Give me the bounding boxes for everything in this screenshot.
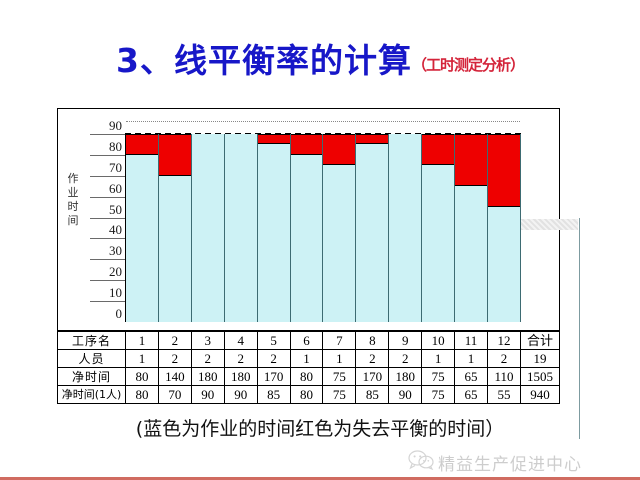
table-cell: 70 [158,386,191,404]
table-row: 净时间80140180180170807517018075651101505 [58,368,560,386]
chart-bar [126,134,159,322]
y-axis-tick-line [90,134,126,135]
table-cell: 2 [158,350,191,368]
title-sub-text: （工时测定分析） [412,56,524,74]
chart-bar-segment-blue [323,165,355,322]
reference-line-dotted [126,121,520,122]
table-column-header: 9 [389,332,422,350]
table-cell: 75 [323,368,356,386]
y-axis-tick-label: 30 [84,243,122,260]
table-cell: 2 [224,350,257,368]
y-axis-tick-label: 60 [84,181,122,198]
table-cell: 85 [257,386,290,404]
table-cell: 80 [126,386,159,404]
chart-bar-segment-red [356,134,388,144]
chart-bar [323,134,356,322]
chart-bar [389,134,422,322]
table-row-label: 工序名 [58,332,126,350]
table-row-label: 人员 [58,350,126,368]
page-title: 3、线平衡率的计算（工时测定分析） [0,34,640,82]
chart-bar [291,134,324,322]
chart-bar-segment-blue [455,186,487,322]
table-column-header: 12 [488,332,521,350]
y-axis-tick-label: 0 [84,306,122,323]
y-axis-tick-label: 80 [84,139,122,156]
table-cell: 75 [422,386,455,404]
watermark: 精益生产促进中心 [408,450,582,475]
chart-bar-segment-red [258,134,290,144]
table-column-header: 8 [356,332,389,350]
data-table: 工序名123456789101112合计人员12222112211219净时间8… [57,331,560,404]
y-axis-title-char: 时 [62,200,84,214]
table-column-header: 3 [191,332,224,350]
table-column-header: 1 [126,332,159,350]
table-cell: 75 [422,368,455,386]
chart-bar-segment-red [126,134,158,155]
chart-bar-segment-red [159,134,191,176]
chart-bar-segment-blue [258,144,290,322]
y-axis-title: 作 业 时 间 [62,172,84,228]
y-axis-title-char: 作 [62,172,84,186]
chart-bar-segment-blue [291,155,323,322]
table-cell: 110 [488,368,521,386]
table-column-header: 10 [422,332,455,350]
title-main-text: 3、线平衡率的计算 [116,41,412,80]
y-axis-tick-line [90,197,126,198]
chart-bar-segment-blue [488,207,520,322]
chart-bar-segment-red [422,134,454,165]
table-cell: 180 [389,368,422,386]
chart-bar [455,134,488,322]
data-table-body: 工序名123456789101112合计人员12222112211219净时间8… [58,332,560,404]
table-cell: 1 [323,350,356,368]
table-cell: 1 [455,350,488,368]
chart-bar-segment-blue [389,134,421,322]
table-column-header: 5 [257,332,290,350]
watermark-text: 精益生产促进中心 [438,450,582,475]
table-cell: 90 [224,386,257,404]
table-cell: 85 [356,386,389,404]
chart-bar [422,134,455,322]
y-axis-tick-line [90,259,126,260]
table-cell: 1 [290,350,323,368]
chart-bars-container [126,134,521,322]
table-column-header: 7 [323,332,356,350]
chart-bar [192,134,225,322]
table-cell: 170 [257,368,290,386]
y-axis-ticks: 9080706050403020100 [84,109,124,330]
table-column-header: 11 [455,332,488,350]
y-axis-tick-label: 10 [84,285,122,302]
chart-bar-segment-blue [225,134,257,322]
chart-bar [356,134,389,322]
table-column-header: 6 [290,332,323,350]
chart-total-column-blank [579,218,618,439]
table-cell: 2 [257,350,290,368]
table-cell: 65 [455,386,488,404]
chart-bar-segment-blue [422,165,454,322]
y-axis-tick-line [90,218,126,219]
chart-bar-segment-blue [356,144,388,322]
table-cell: 2 [389,350,422,368]
table-total-cell: 19 [520,350,559,368]
wechat-icon [408,450,434,475]
table-total-cell: 940 [520,386,559,404]
y-axis-tick-label: 90 [84,118,122,135]
table-row-label: 净时间 [58,368,126,386]
chart-bar-segment-red [323,134,355,165]
y-axis-tick-line [90,280,126,281]
table-row: 净时间(1人)807090908580758590756555940 [58,386,560,404]
y-axis-tick-line [90,155,126,156]
y-axis-title-char: 业 [62,186,84,200]
table-row-label: 净时间(1人) [58,386,126,404]
table-cell: 65 [455,368,488,386]
table-column-header: 4 [224,332,257,350]
table-cell: 90 [191,386,224,404]
chart-plot-area [125,134,521,322]
table-cell: 170 [356,368,389,386]
table-cell: 80 [290,386,323,404]
y-axis-tick-line [90,301,126,302]
table-row: 人员12222112211219 [58,350,560,368]
y-axis-title-char: 间 [62,214,84,228]
table-cell: 180 [191,368,224,386]
table-cell: 1 [126,350,159,368]
chart-bar-segment-blue [192,134,224,322]
table-cell: 55 [488,386,521,404]
chart-bar-segment-red [455,134,487,186]
table-cell: 1 [422,350,455,368]
chart-caption: (蓝色为作业的时间红色为失去平衡的时间） [0,414,640,441]
table-cell: 80 [126,368,159,386]
chart-bar [225,134,258,322]
chart-bar [159,134,192,322]
table-cell: 180 [224,368,257,386]
table-column-header: 2 [158,332,191,350]
table-cell: 80 [290,368,323,386]
chart-bar-segment-red [488,134,520,207]
table-cell: 2 [356,350,389,368]
chart-bar-segment-blue [126,155,158,322]
table-row: 工序名123456789101112合计 [58,332,560,350]
chart-bar-segment-blue [159,176,191,322]
chart-bar [488,134,521,322]
chart-bar-segment-red [291,134,323,155]
table-cell: 2 [488,350,521,368]
y-axis-tick-line [90,238,126,239]
table-total-cell: 1505 [520,368,559,386]
y-axis-tick-label: 50 [84,202,122,219]
y-axis-tick-label: 20 [84,264,122,281]
table-cell: 140 [158,368,191,386]
table-cell: 90 [389,386,422,404]
table-cell: 75 [323,386,356,404]
chart-bar [258,134,291,322]
y-axis-tick-line [90,176,126,177]
table-cell: 2 [191,350,224,368]
table-total-cell: 合计 [520,332,559,350]
y-axis-tick-label: 40 [84,222,122,239]
y-axis-tick-label: 70 [84,160,122,177]
